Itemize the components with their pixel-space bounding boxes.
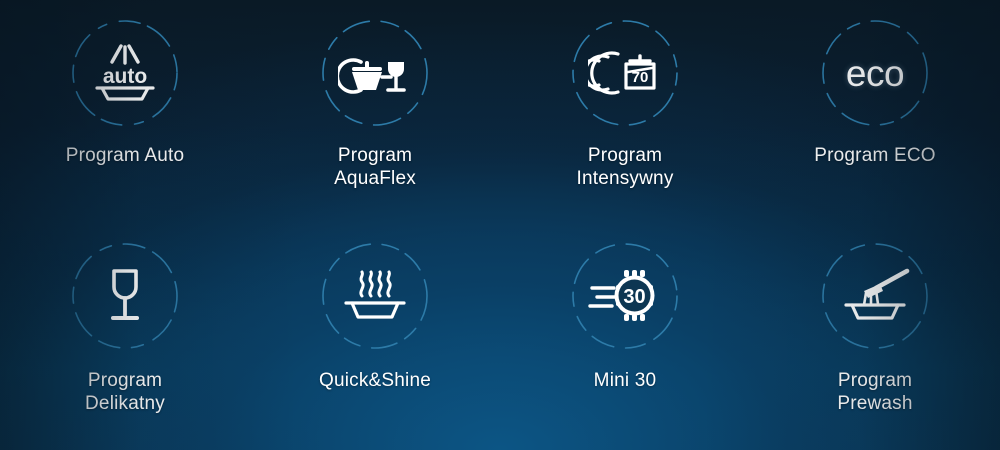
program-badge-aquaflex — [318, 16, 432, 130]
program-badge-auto: auto — [68, 16, 182, 130]
program-card-aquaflex[interactable]: Program AquaFlex — [250, 0, 500, 225]
program-label-prewash: Program Prewash — [837, 369, 912, 416]
pot-plate-glass-icon — [338, 42, 412, 104]
programs-grid: auto Program Auto — [0, 0, 1000, 450]
program-card-auto[interactable]: auto Program Auto — [0, 0, 250, 225]
program-badge-quickshine — [318, 239, 432, 353]
program-label-delikatny: Program Delikatny — [85, 369, 165, 416]
mini30-icon-caption: 30 — [623, 286, 645, 308]
steaming-plate-icon — [338, 265, 412, 327]
program-card-quickshine[interactable]: Quick&Shine — [250, 225, 500, 450]
dashed-circle-ring — [818, 16, 932, 130]
program-card-mini30[interactable]: 30 Mini 30 — [500, 225, 750, 450]
program-card-delikatny[interactable]: Program Delikatny — [0, 225, 250, 450]
wine-glass-icon — [88, 265, 162, 327]
heat-waves-pot-icon: 70 — [588, 42, 662, 104]
auto-icon-caption: auto — [103, 65, 147, 88]
program-badge-delikatny — [68, 239, 182, 353]
program-label-aquaflex: Program AquaFlex — [334, 144, 416, 191]
program-badge-eco: eco — [818, 16, 932, 130]
program-badge-intensywny: 70 — [568, 16, 682, 130]
program-label-auto: Program Auto — [66, 144, 185, 167]
program-card-eco[interactable]: eco Program ECO — [750, 0, 1000, 225]
program-card-intensywny[interactable]: 70 Program Intensywny — [500, 0, 750, 225]
auto-plate-icon: auto — [88, 42, 162, 104]
program-badge-prewash — [818, 239, 932, 353]
program-badge-mini30: 30 — [568, 239, 682, 353]
brush-over-plate-icon — [838, 265, 912, 327]
program-label-eco: Program ECO — [814, 144, 936, 167]
program-card-prewash[interactable]: Program Prewash — [750, 225, 1000, 450]
program-label-intensywny: Program Intensywny — [576, 144, 673, 191]
programs-panel: auto Program Auto — [0, 0, 1000, 450]
program-label-mini30: Mini 30 — [594, 369, 657, 392]
speeding-alarm-clock-icon: 30 — [588, 265, 662, 327]
program-label-quickshine: Quick&Shine — [319, 369, 431, 392]
